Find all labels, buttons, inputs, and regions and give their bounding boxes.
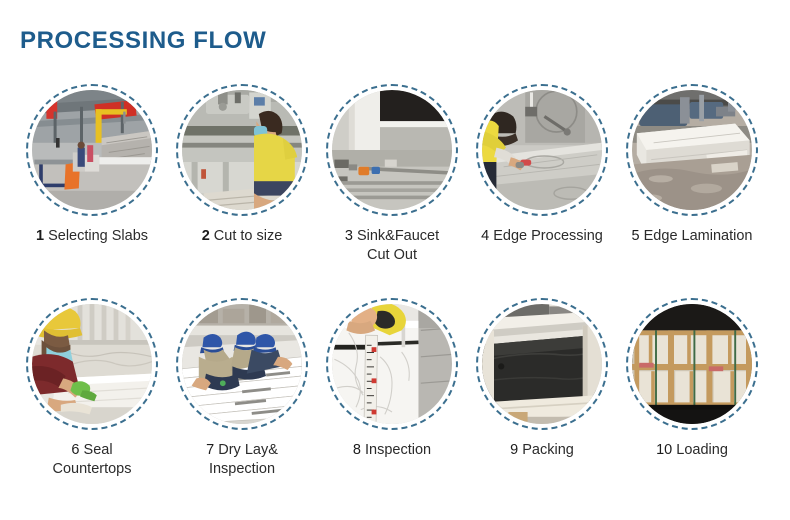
flow-step-5[interactable]: 5 Edge Lamination (617, 84, 767, 265)
flow-step-4[interactable]: 4 Edge Processing (467, 84, 617, 265)
step-5-photo-edge-lamination (632, 90, 752, 210)
flow-step-7[interactable]: 7 Dry Lay& Inspection (167, 298, 317, 479)
step-10-circle (626, 298, 758, 430)
page-title: PROCESSING FLOW (20, 27, 266, 55)
step-8-number: 8 (353, 442, 361, 458)
step-3-number: 3 (345, 228, 353, 244)
flow-step-10[interactable]: 10 Loading (617, 298, 767, 479)
step-7-label-line2: Inspection (160, 460, 325, 479)
step-1-photo-selecting-slabs (32, 90, 152, 210)
step-1-circle (26, 84, 158, 216)
flow-step-8[interactable]: 8 Inspection (317, 298, 467, 479)
step-5-label-line1: Edge Lamination (644, 228, 753, 244)
step-9-photo-packing (482, 304, 602, 424)
flow-step-2[interactable]: 2 Cut to size (167, 84, 317, 265)
step-3-circle (326, 84, 458, 216)
step-4-photo-edge-processing (482, 90, 602, 210)
step-9-circle (476, 298, 608, 430)
step-6-label-line1: Seal (84, 442, 113, 458)
step-2-photo-cut-to-size (182, 90, 302, 210)
step-6-label-line2: Countertops (10, 460, 175, 479)
step-10-label-line1: Loading (676, 442, 728, 458)
step-7-circle (176, 298, 308, 430)
step-10-photo-loading (632, 304, 752, 424)
step-5-number: 5 (632, 228, 640, 244)
step-10-label: 10 Loading (610, 441, 775, 460)
step-9-label: 9 Packing (460, 441, 625, 460)
processing-flow-page: PROCESSING FLOW (0, 0, 790, 520)
step-4-number: 4 (481, 228, 489, 244)
step-10-number: 10 (656, 442, 672, 458)
step-9-number: 9 (510, 442, 518, 458)
step-8-label-line1: Inspection (365, 442, 431, 458)
step-5-circle (626, 84, 758, 216)
flow-step-6[interactable]: 6 Seal Countertops (17, 298, 167, 479)
step-5-label: 5 Edge Lamination (610, 227, 775, 246)
step-4-label: 4 Edge Processing (460, 227, 625, 246)
flow-step-9[interactable]: 9 Packing (467, 298, 617, 479)
step-6-circle (26, 298, 158, 430)
step-3-label-line1: Sink&Faucet (357, 228, 439, 244)
flow-row-2: 6 Seal Countertops (0, 298, 790, 479)
step-1-number: 1 (36, 228, 44, 244)
step-7-number: 7 (206, 442, 214, 458)
step-2-number: 2 (202, 228, 210, 244)
step-3-label: 3 Sink&Faucet Cut Out (310, 227, 475, 265)
step-1-label: 1 Selecting Slabs (10, 227, 175, 246)
step-9-label-line1: Packing (522, 442, 574, 458)
step-8-circle (326, 298, 458, 430)
step-2-label-line1: Cut to size (214, 228, 283, 244)
step-4-circle (476, 84, 608, 216)
step-2-label: 2 Cut to size (160, 227, 325, 246)
flow-row-1: 1 Selecting Slabs (0, 84, 790, 265)
step-2-circle (176, 84, 308, 216)
step-4-label-line1: Edge Processing (493, 228, 603, 244)
step-6-label: 6 Seal Countertops (10, 441, 175, 479)
step-1-label-line1: Selecting Slabs (48, 228, 148, 244)
step-8-photo-inspection (332, 304, 452, 424)
flow-step-1[interactable]: 1 Selecting Slabs (17, 84, 167, 265)
step-7-label-line1: Dry Lay& (218, 442, 278, 458)
step-8-label: 8 Inspection (310, 441, 475, 460)
step-3-photo-sink-faucet-cut-out (332, 90, 452, 210)
flow-step-3[interactable]: 3 Sink&Faucet Cut Out (317, 84, 467, 265)
step-6-photo-seal-countertops (32, 304, 152, 424)
step-7-photo-dry-lay-inspection (182, 304, 302, 424)
step-6-number: 6 (71, 442, 79, 458)
step-7-label: 7 Dry Lay& Inspection (160, 441, 325, 479)
step-3-label-line2: Cut Out (310, 246, 475, 265)
